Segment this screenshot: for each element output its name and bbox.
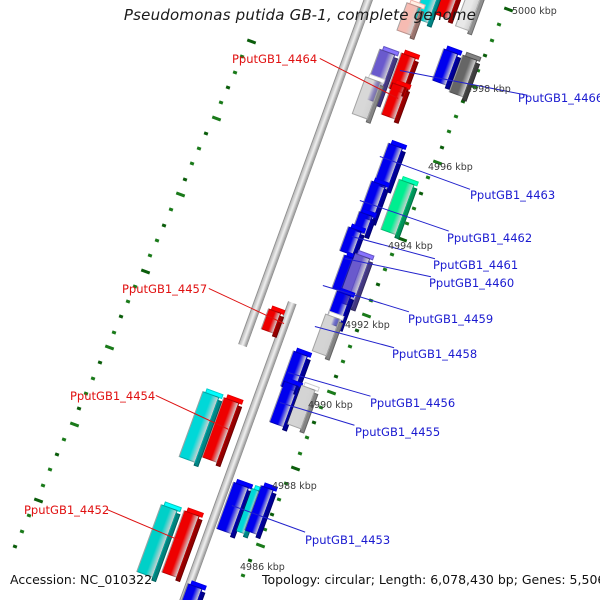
scale-tick-mark [62, 437, 67, 441]
scale-tick-mark [126, 300, 131, 304]
scale-tick-mark [247, 39, 256, 45]
scale-tick-mark [19, 529, 24, 533]
genome-map-canvas[interactable]: Pseudomonas putida GB-1, complete genome… [0, 0, 600, 600]
scale-tick-mark [376, 283, 381, 287]
scale-tick-mark [326, 389, 335, 395]
scale-tick-mark [255, 542, 264, 548]
scale-tick-mark [418, 191, 423, 195]
scale-tick-mark [140, 268, 149, 274]
scale-tick-mark [105, 345, 114, 351]
scale-tick-mark [276, 497, 281, 501]
scale-tick-mark [440, 145, 445, 149]
scale-tick-mark [447, 130, 452, 134]
gene-label-pputgb1_4455[interactable]: PputGB1_4455 [355, 425, 440, 439]
gene-label-pputgb1_4454[interactable]: PputGB1_4454 [70, 389, 155, 403]
gene-label-pputgb1_4456[interactable]: PputGB1_4456 [370, 396, 455, 410]
scale-tick-mark [154, 238, 159, 242]
scale-tick-mark [454, 115, 459, 119]
scale-tick-mark [204, 131, 209, 135]
scale-tick-mark [340, 359, 345, 363]
kbp-tick-label: 4998 kbp [466, 84, 511, 95]
scale-tick-mark [168, 208, 173, 212]
scale-tick-mark [390, 252, 395, 256]
scale-tick-mark [347, 344, 352, 348]
scale-tick-mark [69, 421, 78, 427]
kbp-tick-label: 4996 kbp [428, 162, 473, 173]
gene-label-pputgb1_4462[interactable]: PputGB1_4462 [447, 231, 532, 245]
scale-tick-mark [218, 101, 223, 105]
scale-tick-mark [12, 544, 17, 548]
gene-box[interactable] [312, 313, 341, 356]
scale-tick-mark [482, 53, 487, 57]
gene-label-pputgb1_4453[interactable]: PputGB1_4453 [305, 533, 390, 547]
gene-label-pputgb1_4458[interactable]: PputGB1_4458 [392, 347, 477, 361]
scale-tick-mark [183, 177, 188, 181]
scale-tick-mark [241, 574, 246, 578]
scale-tick-mark [232, 70, 237, 74]
scale-tick-mark [76, 407, 81, 411]
genome-stats-text: Topology: circular; Length: 6,078,430 bp… [262, 572, 600, 587]
scale-tick-mark [55, 453, 60, 457]
gene-label-pputgb1_4464[interactable]: PputGB1_4464 [232, 52, 317, 66]
scale-tick-mark [97, 361, 102, 365]
scale-tick-mark [112, 330, 117, 334]
scale-tick-mark [176, 192, 185, 198]
scale-tick-mark [225, 85, 230, 89]
gene-label-pputgb1_4463[interactable]: PputGB1_4463 [470, 188, 555, 202]
gene-label-pputgb1_4461[interactable]: PputGB1_4461 [433, 258, 518, 272]
scale-tick-mark [425, 176, 430, 180]
scale-tick-mark [291, 466, 300, 472]
scale-tick-mark [147, 254, 152, 258]
gene-label-pputgb1_4457[interactable]: PputGB1_4457 [122, 282, 207, 296]
scale-tick-mark [119, 315, 124, 319]
scale-tick-mark [161, 223, 166, 227]
scale-tick-mark [411, 206, 416, 210]
gene-label-pputgb1_4466[interactable]: PputGB1_4466 [518, 91, 600, 105]
scale-tick-mark [333, 375, 338, 379]
scale-tick-mark [362, 313, 371, 319]
kbp-tick-label: 4992 kbp [345, 320, 390, 331]
kbp-tick-label: 4988 kbp [272, 481, 317, 492]
page-title: Pseudomonas putida GB-1, complete genome [0, 6, 600, 24]
scale-tick-mark [41, 483, 46, 487]
scale-tick-mark [211, 115, 220, 121]
scale-tick-mark [90, 376, 95, 380]
gene-label-pputgb1_4459[interactable]: PputGB1_4459 [408, 312, 493, 326]
scale-tick-mark [197, 147, 202, 151]
kbp-tick-label: 4990 kbp [308, 400, 353, 411]
scale-tick-mark [269, 512, 274, 516]
gene-label-pputgb1_4452[interactable]: PputGB1_4452 [24, 503, 109, 517]
kbp-tick-label: 4994 kbp [388, 241, 433, 252]
scale-tick-mark [298, 451, 303, 455]
scale-tick-mark [190, 162, 195, 166]
scale-tick-mark [312, 421, 317, 425]
accession-text: Accession: NC_010322 [10, 572, 152, 587]
scale-tick-mark [489, 38, 494, 42]
scale-tick-mark [48, 468, 53, 472]
scale-tick-mark [305, 436, 310, 440]
gene-label-pputgb1_4460[interactable]: PputGB1_4460 [429, 276, 514, 290]
